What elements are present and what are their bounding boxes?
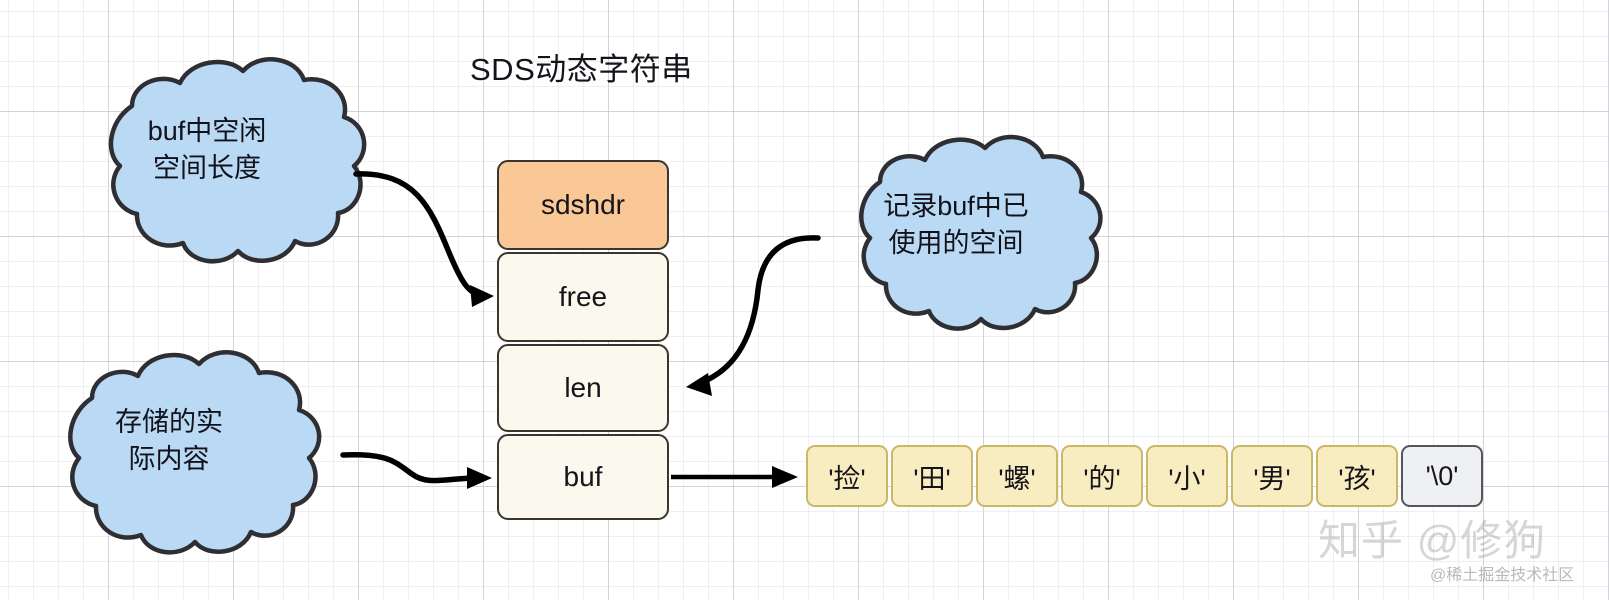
char-cell-terminator: '\0'	[1401, 445, 1483, 507]
arrow-cloud-len-to-len-field	[686, 238, 818, 396]
cloud-label-buf: 存储的实 际内容	[40, 404, 298, 478]
char-cell: '捡'	[806, 445, 888, 507]
watermark-secondary: @稀土掘金技术社区	[1430, 561, 1574, 585]
char-cell: '螺'	[976, 445, 1058, 507]
arrow-cloud-free-to-free-field	[356, 174, 494, 307]
char-cell: '小'	[1146, 445, 1228, 507]
watermark-primary: 知乎 @修狗	[1318, 507, 1546, 568]
cloud-label-len: 记录buf中已 使用的空间	[833, 188, 1079, 262]
struct-field-sdshdr: sdshdr	[497, 160, 669, 250]
arrow-buf-field-to-char-array	[671, 466, 798, 488]
char-cell: '的'	[1061, 445, 1143, 507]
char-cell: '田'	[891, 445, 973, 507]
diagram-canvas: SDS动态字符串	[0, 0, 1609, 600]
struct-field-free: free	[497, 252, 669, 342]
char-cell: '男'	[1231, 445, 1313, 507]
cloud-label-free: buf中空闲 空间长度	[78, 113, 336, 187]
struct-field-len: len	[497, 344, 669, 432]
cloud-shape-len	[861, 137, 1100, 329]
char-array: '捡''田''螺''的''小''男''孩''\0'	[806, 445, 1483, 507]
page-title: SDS动态字符串	[470, 44, 693, 89]
struct-field-buf: buf	[497, 434, 669, 520]
arrow-cloud-buf-to-buf-field	[343, 455, 492, 489]
char-cell: '孩'	[1316, 445, 1398, 507]
cloud-shape-free	[111, 59, 364, 261]
cloud-shape-buf	[70, 352, 319, 552]
